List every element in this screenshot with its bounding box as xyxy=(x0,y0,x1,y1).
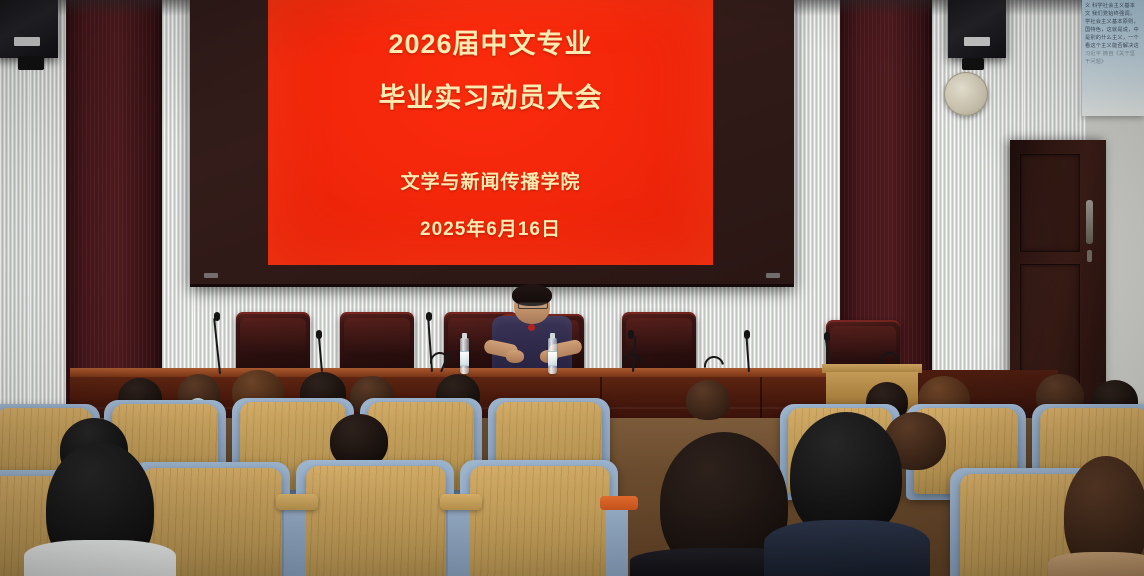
speaker-mount-right xyxy=(962,58,984,70)
water-bottle xyxy=(548,338,557,374)
seat-armrest xyxy=(276,494,318,510)
screen-brand-badge-right xyxy=(766,273,780,278)
wall-speaker-left xyxy=(0,0,58,58)
microphone-head xyxy=(214,312,220,321)
poster-line: 干问题》 xyxy=(1085,58,1141,66)
microphone-head xyxy=(628,330,634,339)
poster-line: 看这个主义能否解决这 xyxy=(1085,42,1141,50)
slide-title-line-1: 2026届中文专业 xyxy=(388,30,592,58)
microphone-head xyxy=(744,330,750,339)
seat-wood-grain xyxy=(306,466,446,576)
poster-line: 习近平 摘自《关于坚 xyxy=(1085,50,1141,58)
wall-panel-ribbed-far-right xyxy=(1024,0,1086,145)
door-handle[interactable] xyxy=(1086,200,1093,244)
seat-armrest xyxy=(440,494,482,510)
slide-organization: 文学与新闻传播学院 xyxy=(400,167,580,194)
audience-head xyxy=(686,380,730,420)
seat-wood-grain xyxy=(470,466,610,576)
door-lock-icon xyxy=(1087,250,1092,262)
seat-armrest-post xyxy=(284,504,306,576)
audience-shoulders xyxy=(764,520,930,576)
presenter-glasses xyxy=(518,302,548,309)
projection-screen: 2026届中文专业 毕业实习动员大会 文学与新闻传播学院 2025年6月16日 xyxy=(190,0,794,287)
seat-armrest-post xyxy=(606,506,628,576)
poster-line: 国特色，这就是说，中 xyxy=(1085,26,1141,34)
presidium-chair xyxy=(236,312,310,374)
slide-surface: 2026届中文专业 毕业实习动员大会 文学与新闻传播学院 2025年6月16日 xyxy=(268,0,713,265)
wall-poster: 义 科学社会主义基本 文 我们党始终强调， 学社会主义基本原则， 国特色，这就是… xyxy=(1082,0,1144,116)
auditorium-seat-back xyxy=(470,466,610,576)
poster-line: 义 科学社会主义基本 xyxy=(1085,2,1141,10)
lecture-hall-photo: 2026届中文专业 毕业实习动员大会 文学与新闻传播学院 2025年6月16日 … xyxy=(0,0,1144,576)
seat-armrest-post xyxy=(448,504,470,576)
audience-shoulders xyxy=(24,540,176,576)
presenter-hand-left xyxy=(506,350,524,363)
slide-text-block: 2026届中文专业 毕业实习动员大会 文学与新闻传播学院 2025年6月16日 xyxy=(268,0,713,265)
wall-panel-ribbed-center-left xyxy=(160,0,194,420)
microphone-head xyxy=(316,330,322,339)
wall-disc-fixture xyxy=(944,72,988,116)
microphone-head xyxy=(824,332,830,341)
slide-date: 2025年6月16日 xyxy=(420,214,561,241)
bottle-label xyxy=(548,351,557,366)
poster-line: 学社会主义基本原则， xyxy=(1085,18,1141,26)
speaker-brand-label-left xyxy=(14,37,40,46)
seat-armrest-accent xyxy=(600,496,638,510)
wall-speaker-right xyxy=(948,0,1006,58)
auditorium-seat-back xyxy=(306,466,446,576)
presidium-chair xyxy=(340,312,414,374)
slide-title-line-2: 毕业实习动员大会 xyxy=(379,84,603,112)
wall-pilaster-left xyxy=(66,0,162,420)
bottle-label xyxy=(460,351,469,366)
speaker-brand-label-right xyxy=(964,37,990,46)
water-bottle xyxy=(460,338,469,374)
door-panel-upper xyxy=(1020,154,1080,252)
presenter xyxy=(470,280,590,380)
poster-line: 是别的什么主义，一个 xyxy=(1085,34,1141,42)
presenter-badge xyxy=(528,324,535,331)
screen-brand-badge-left xyxy=(204,273,218,278)
audience-shoulders xyxy=(1048,552,1144,576)
poster-line: 文 我们党始终强调， xyxy=(1085,10,1141,18)
microphone-head xyxy=(426,312,432,321)
speaker-mount-left xyxy=(18,56,44,70)
